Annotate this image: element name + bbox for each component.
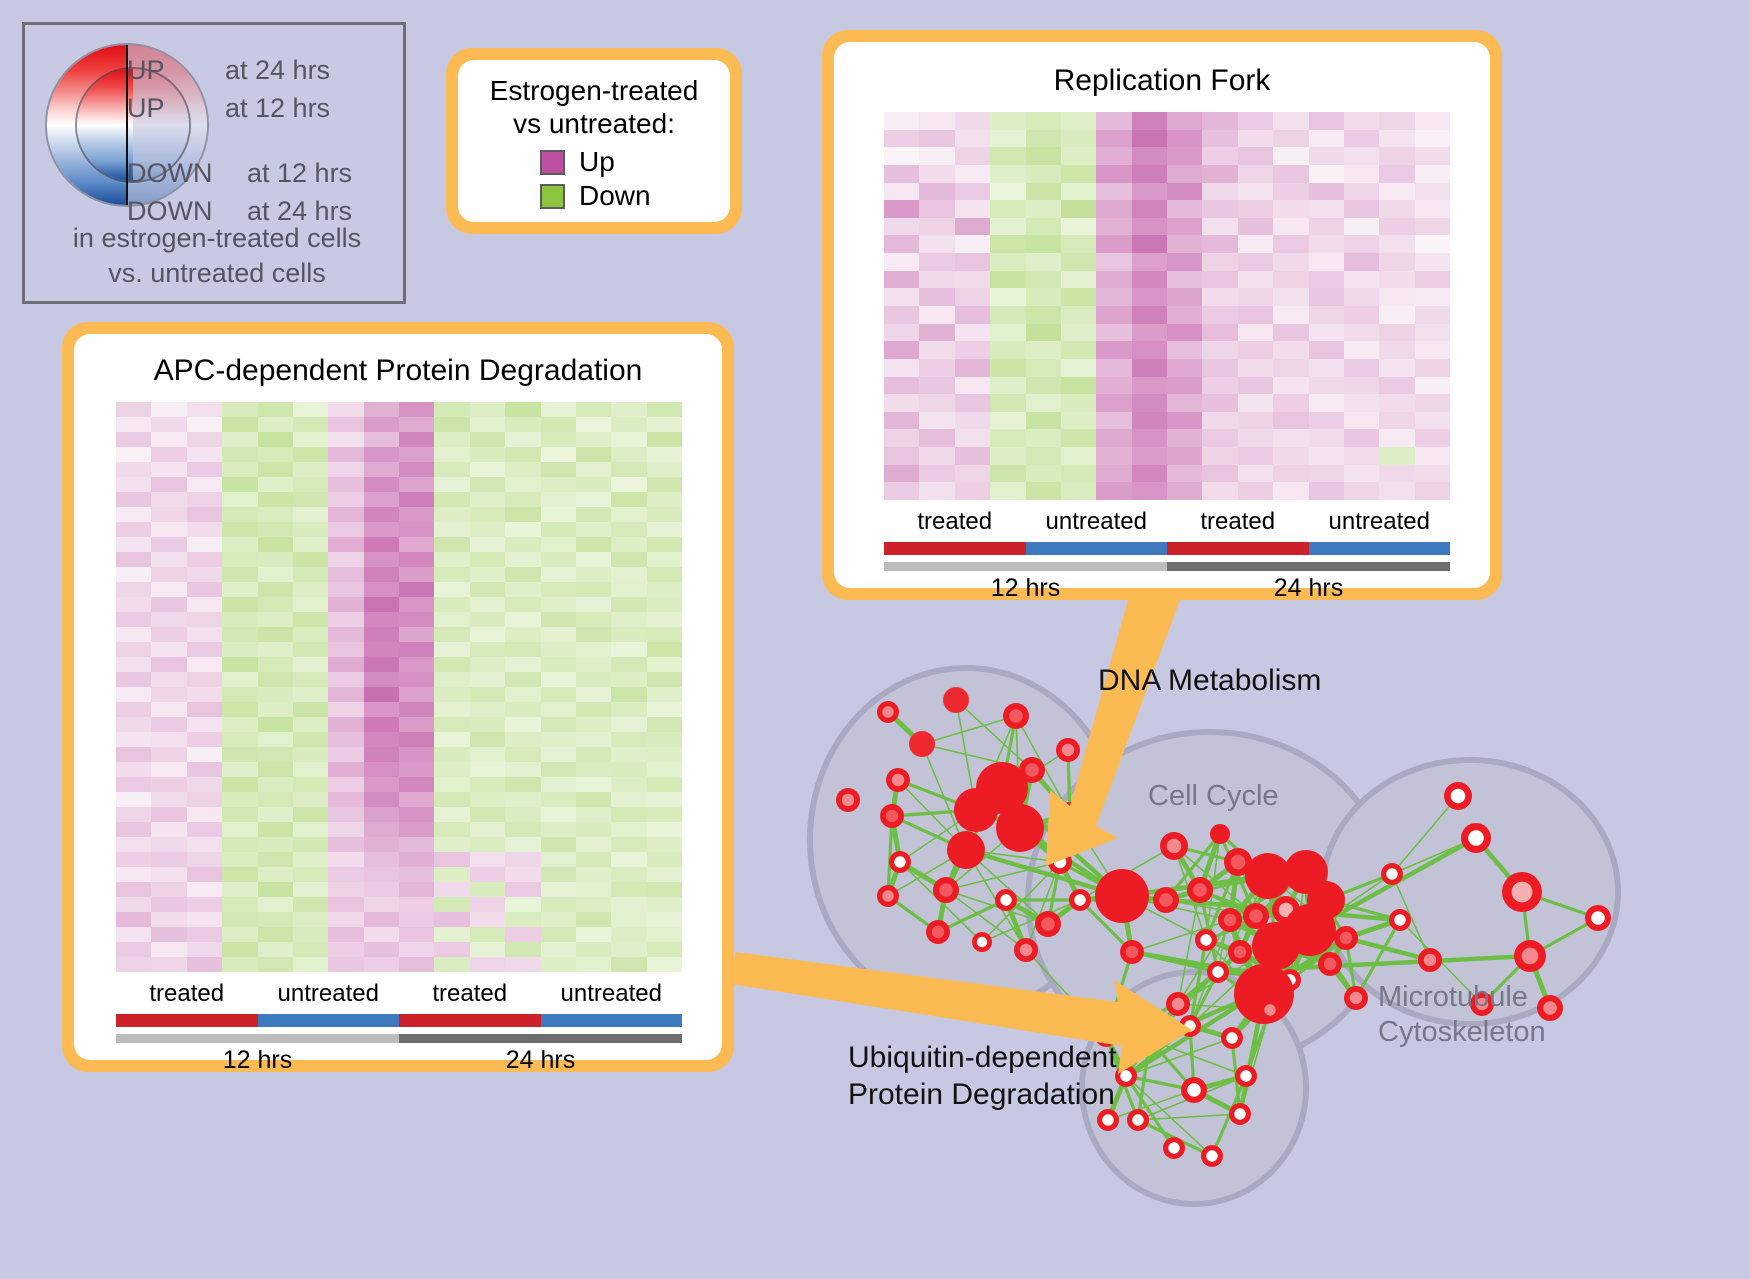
heatmap-cell [293, 402, 328, 417]
network-node [1245, 853, 1291, 899]
heatmap-cell [884, 465, 919, 483]
heatmap-cell [222, 642, 257, 657]
heatmap-cell [470, 807, 505, 822]
apc-treatment-bar [116, 1014, 682, 1027]
heatmap-cell [258, 567, 293, 582]
heatmap-cell [1379, 447, 1414, 465]
heatmap-cell [470, 552, 505, 567]
heatmap-cell [116, 492, 151, 507]
heatmap-cell [1344, 112, 1379, 130]
heatmap-cell [470, 582, 505, 597]
heatmap-cell [884, 165, 919, 183]
heatmap-cell [1379, 147, 1414, 165]
heatmap-cell [1096, 412, 1131, 430]
heatmap-cell [1202, 465, 1237, 483]
heatmap-cell [647, 507, 682, 522]
heatmap-cell [187, 912, 222, 927]
heatmap-cell [151, 582, 186, 597]
heatmap-cell [399, 462, 434, 477]
heatmap-cell [364, 837, 399, 852]
heatmap-cell [187, 462, 222, 477]
heatmap-cell [293, 942, 328, 957]
heatmap-cell [293, 642, 328, 657]
heatmap-cell [990, 394, 1025, 412]
heatmap-cell [576, 612, 611, 627]
heatmap-cell [955, 324, 990, 342]
heatmap-cell [116, 582, 151, 597]
heatmap-cell [151, 927, 186, 942]
heatmap-cell [611, 777, 646, 792]
heatmap-cell [222, 912, 257, 927]
heatmap-cell [470, 957, 505, 972]
heatmap-cell [1238, 377, 1273, 395]
heatmap-cell [1167, 324, 1202, 342]
heatmap-cell [647, 567, 682, 582]
heatmap-cell [611, 837, 646, 852]
heatmap-cell [611, 627, 646, 642]
heatmap-cell [116, 462, 151, 477]
heatmap-cell [328, 567, 363, 582]
heatmap-cell [1132, 429, 1167, 447]
heatmap-cell [328, 717, 363, 732]
heatmap-cell [1132, 253, 1167, 271]
heatmap-cell [541, 657, 576, 672]
heatmap-cell [647, 957, 682, 972]
heatmap-cell [434, 702, 469, 717]
heatmap-cell [364, 462, 399, 477]
heatmap-cell [116, 417, 151, 432]
heatmap-cell [1026, 306, 1061, 324]
heatmap-cell [1273, 200, 1308, 218]
heatmap-cell [434, 942, 469, 957]
heatmap-cell [955, 429, 990, 447]
heatmap-cell [151, 672, 186, 687]
heatmap-cell [1026, 482, 1061, 500]
heatmap-cell [541, 612, 576, 627]
heatmap-cell [1096, 465, 1131, 483]
heatmap-cell [1167, 183, 1202, 201]
heatmap-cell [399, 897, 434, 912]
heatmap-cell [1026, 465, 1061, 483]
heatmap-cell [884, 341, 919, 359]
heatmap-cell [1415, 394, 1450, 412]
heatmap-cell [990, 341, 1025, 359]
heatmap-cell [955, 394, 990, 412]
heatmap-cell [151, 552, 186, 567]
heatmap-cell [955, 165, 990, 183]
heatmap-cell [1238, 165, 1273, 183]
heatmap-cell [541, 477, 576, 492]
heatmap-cell [647, 447, 682, 462]
heatmap-cell [1096, 482, 1131, 500]
heatmap-cell [151, 627, 186, 642]
heatmap-cell [434, 792, 469, 807]
heatmap-cell [647, 777, 682, 792]
heatmap-cell [1379, 218, 1414, 236]
heatmap-cell [364, 777, 399, 792]
heatmap-cell [364, 642, 399, 657]
heatmap-cell [955, 359, 990, 377]
heatmap-cell [1379, 359, 1414, 377]
heatmap-cell [151, 657, 186, 672]
heatmap-cell [576, 567, 611, 582]
heatmap-cell [647, 837, 682, 852]
heatmap-cell [647, 687, 682, 702]
heatmap-cell [1132, 465, 1167, 483]
heatmap-cell [328, 897, 363, 912]
heatmap-cell [328, 837, 363, 852]
heatmap-cell [151, 732, 186, 747]
network-node-core [1020, 944, 1032, 956]
heatmap-cell [1379, 429, 1414, 447]
heatmap-cell [1273, 288, 1308, 306]
apc-time-label-0: 12 hrs [116, 1046, 399, 1075]
heatmap-cell [293, 807, 328, 822]
heatmap-cell [919, 465, 954, 483]
heatmap-cell [328, 747, 363, 762]
network-node-core [1041, 917, 1055, 931]
heatmap-cell [187, 687, 222, 702]
heatmap-cell [293, 957, 328, 972]
heatmap-cell [151, 837, 186, 852]
heatmap-cell [990, 130, 1025, 148]
heatmap-cell [328, 957, 363, 972]
heatmap-cell [1309, 412, 1344, 430]
heatmap-cell [1415, 271, 1450, 289]
heatmap-cell [116, 912, 151, 927]
heatmap-cell [955, 447, 990, 465]
heatmap-cell [364, 672, 399, 687]
network-node-core [1009, 709, 1023, 723]
heatmap-cell [990, 412, 1025, 430]
heatmap-cell [222, 882, 257, 897]
network-node-core [1386, 868, 1397, 879]
heatmap-cell [647, 417, 682, 432]
heatmap-cell [1132, 200, 1167, 218]
network-node-core [1025, 763, 1039, 777]
heatmap-cell [1238, 412, 1273, 430]
heatmap-cell [611, 432, 646, 447]
heatmap-cell [611, 552, 646, 567]
legend-title-line1: Estrogen-treated [468, 74, 720, 107]
heatmap-cell [1096, 253, 1131, 271]
heatmap-cell [990, 324, 1025, 342]
heatmap-cell [919, 429, 954, 447]
heatmap-cell [399, 747, 434, 762]
heatmap-cell [1344, 200, 1379, 218]
heatmap-cell [222, 597, 257, 612]
network-node [943, 687, 969, 713]
heatmap-cell [434, 402, 469, 417]
heatmap-cell [399, 522, 434, 537]
heatmap-cell [990, 482, 1025, 500]
heatmap-cell [611, 447, 646, 462]
heatmap-cell [364, 942, 399, 957]
heatmap-cell [505, 672, 540, 687]
heatmap-cell [116, 717, 151, 732]
heatmap-cell [1309, 341, 1344, 359]
heatmap-cell [919, 447, 954, 465]
heatmap-cell [1273, 112, 1308, 130]
heatmap-cell [1202, 218, 1237, 236]
heatmap-cell [1061, 377, 1096, 395]
heatmap-cell [222, 507, 257, 522]
heatmap-cell [919, 130, 954, 148]
heatmap-cell [1379, 235, 1414, 253]
heatmap-cell [919, 183, 954, 201]
heatmap-cell [151, 717, 186, 732]
heatmap-cell [576, 627, 611, 642]
heatmap-cell [1415, 218, 1450, 236]
heatmap-cell [955, 465, 990, 483]
heatmap-cell [293, 792, 328, 807]
heatmap-cell [541, 402, 576, 417]
heatmap-cell [399, 552, 434, 567]
heatmap-cell [1061, 324, 1096, 342]
heatmap-cell [884, 147, 919, 165]
heatmap-cell [576, 657, 611, 672]
heatmap-cell [647, 942, 682, 957]
heatmap-cell [328, 477, 363, 492]
heatmap-cell [328, 492, 363, 507]
heatmap-cell [1061, 412, 1096, 430]
network-node-core [1167, 839, 1182, 854]
network-node-core [1424, 954, 1436, 966]
heatmap-cell [1415, 429, 1450, 447]
heatmap-cell [364, 612, 399, 627]
heatmap-cell [434, 717, 469, 732]
heatmap-cell [505, 537, 540, 552]
heatmap-cell [434, 462, 469, 477]
heatmap-cell [611, 717, 646, 732]
heatmap-cell [611, 672, 646, 687]
heatmap-cell [1061, 253, 1096, 271]
heatmap-cell [434, 747, 469, 762]
heatmap-cell [151, 822, 186, 837]
heatmap-cell [990, 429, 1025, 447]
network-node-core [977, 937, 987, 947]
heatmap-cell [1167, 429, 1202, 447]
heatmap-cell [1096, 288, 1131, 306]
heatmap-cell [151, 612, 186, 627]
heatmap-cell [1273, 412, 1308, 430]
heatmap-cell [990, 218, 1025, 236]
heatmap-cell [293, 717, 328, 732]
heatmap-cell [647, 732, 682, 747]
heatmap-cell [1132, 306, 1167, 324]
heatmap-cell [222, 957, 257, 972]
heatmap-cell [470, 717, 505, 732]
heatmap-cell [576, 582, 611, 597]
heatmap-cell [293, 912, 328, 927]
heatmap-cell [541, 942, 576, 957]
heatmap-cell [1202, 429, 1237, 447]
network-node [996, 804, 1044, 852]
heatmap-cell [611, 702, 646, 717]
network-node-core [1168, 1142, 1179, 1153]
heatmap-cell [1379, 183, 1414, 201]
heatmap-cell [258, 552, 293, 567]
heatmap-cell [434, 582, 469, 597]
heatmap-cell [293, 567, 328, 582]
heatmap-cell [116, 867, 151, 882]
rf-group-label-1: untreated [1026, 508, 1168, 536]
heatmap-cell [258, 957, 293, 972]
heatmap-cell [328, 822, 363, 837]
heatmap-cell [647, 912, 682, 927]
heatmap-cell [955, 306, 990, 324]
heatmap-cell [1273, 306, 1308, 324]
heatmap-cell [434, 432, 469, 447]
heatmap-cell [470, 657, 505, 672]
heatmap-cell [1379, 288, 1414, 306]
heatmap-cell [187, 537, 222, 552]
heatmap-cell [364, 747, 399, 762]
heatmap-cell [434, 492, 469, 507]
heatmap-cell [919, 359, 954, 377]
heatmap-cell [116, 822, 151, 837]
heatmap-cell [611, 507, 646, 522]
heatmap-cell [293, 687, 328, 702]
heatmap-cell [399, 627, 434, 642]
network-node-core [1350, 992, 1362, 1004]
network-node-core [886, 810, 898, 822]
heatmap-cell [1309, 235, 1344, 253]
heatmap-cell [293, 537, 328, 552]
heatmap-cell [293, 582, 328, 597]
heatmap-cell [258, 867, 293, 882]
heatmap-cell [1379, 306, 1414, 324]
heatmap-cell [399, 597, 434, 612]
heatmap-cell [1061, 183, 1096, 201]
heatmap-cell [541, 867, 576, 882]
heatmap-cell [505, 657, 540, 672]
heatmap-cell [611, 687, 646, 702]
heatmap-cell [116, 762, 151, 777]
heatmap-cell [541, 732, 576, 747]
figure-canvas: UP at 24 hrs UP at 12 hrs DOWN at 12 hrs… [0, 0, 1750, 1279]
heatmap-cell [576, 597, 611, 612]
heatmap-cell [1273, 482, 1308, 500]
heatmap-cell [576, 792, 611, 807]
network-node-core [1522, 948, 1539, 965]
heatmap-cell [1096, 130, 1131, 148]
heatmap-cell [1167, 447, 1202, 465]
heatmap-cell [434, 897, 469, 912]
heatmap-cell [470, 612, 505, 627]
heatmap-cell [611, 942, 646, 957]
heatmap-cell [151, 402, 186, 417]
heatmap-cell [293, 597, 328, 612]
heatmap-cell [399, 762, 434, 777]
heatmap-cell [187, 702, 222, 717]
heatmap-cell [541, 702, 576, 717]
heatmap-cell [399, 447, 434, 462]
heatmap-cell [470, 687, 505, 702]
heatmap-cell [505, 477, 540, 492]
heatmap-cell [116, 642, 151, 657]
heatmap-cell [1026, 235, 1061, 253]
heatmap-cell [1415, 412, 1450, 430]
heatmap-cell [884, 306, 919, 324]
heatmap-cell [647, 462, 682, 477]
heatmap-cell [611, 657, 646, 672]
heatmap-cell [1202, 200, 1237, 218]
heatmap-cell [1344, 130, 1379, 148]
heatmap-cell [364, 702, 399, 717]
heatmap-cell [364, 912, 399, 927]
heatmap-cell [470, 762, 505, 777]
heatmap-cell [470, 777, 505, 792]
heatmap-cell [505, 582, 540, 597]
replication-fork-time-labels: 12 hrs 24 hrs [884, 574, 1450, 603]
heatmap-cell [399, 942, 434, 957]
heatmap-cell [434, 867, 469, 882]
heatmap-cell [399, 792, 434, 807]
heatmap-cell [258, 672, 293, 687]
heatmap-cell [1344, 377, 1379, 395]
heatmap-cell [1238, 253, 1273, 271]
heatmap-cell [328, 777, 363, 792]
heatmap-cell [434, 597, 469, 612]
heatmap-cell [258, 777, 293, 792]
heatmap-cell [505, 852, 540, 867]
heatmap-cell [505, 702, 540, 717]
heatmap-cell [187, 942, 222, 957]
heatmap-cell [1344, 412, 1379, 430]
heatmap-cell [364, 627, 399, 642]
heatmap-cell [1167, 412, 1202, 430]
heatmap-cell [1415, 341, 1450, 359]
network-node-core [1159, 893, 1173, 907]
heatmap-cell [884, 183, 919, 201]
heatmap-cell [1238, 341, 1273, 359]
heatmap-cell [187, 507, 222, 522]
heatmap-cell [541, 642, 576, 657]
heatmap-cell [187, 777, 222, 792]
heatmap-cell [434, 642, 469, 657]
heatmap-cell [1309, 324, 1344, 342]
network-node-core [1102, 1114, 1113, 1125]
heatmap-cell [1132, 147, 1167, 165]
heatmap-cell [470, 642, 505, 657]
heatmap-cell [611, 537, 646, 552]
heatmap-cell [399, 807, 434, 822]
heatmap-cell [434, 957, 469, 972]
heatmap-cell [1096, 377, 1131, 395]
heatmap-cell [187, 807, 222, 822]
heatmap-cell [328, 462, 363, 477]
heatmap-cell [919, 394, 954, 412]
heatmap-cell [187, 597, 222, 612]
heatmap-cell [1273, 165, 1308, 183]
heatmap-cell [293, 447, 328, 462]
heatmap-cell [505, 627, 540, 642]
heatmap-cell [611, 792, 646, 807]
heatmap-cell [1309, 288, 1344, 306]
heatmap-cell [364, 852, 399, 867]
heatmap-cell [1415, 465, 1450, 483]
heatmap-cell [541, 837, 576, 852]
heatmap-cell [990, 112, 1025, 130]
heatmap-cell [647, 402, 682, 417]
heatmap-cell [541, 912, 576, 927]
apc-group-labels: treated untreated treated untreated [116, 980, 682, 1008]
heatmap-cell [541, 507, 576, 522]
heatmap-cell [1344, 324, 1379, 342]
heatmap-cell [293, 657, 328, 672]
heatmap-cell [364, 432, 399, 447]
